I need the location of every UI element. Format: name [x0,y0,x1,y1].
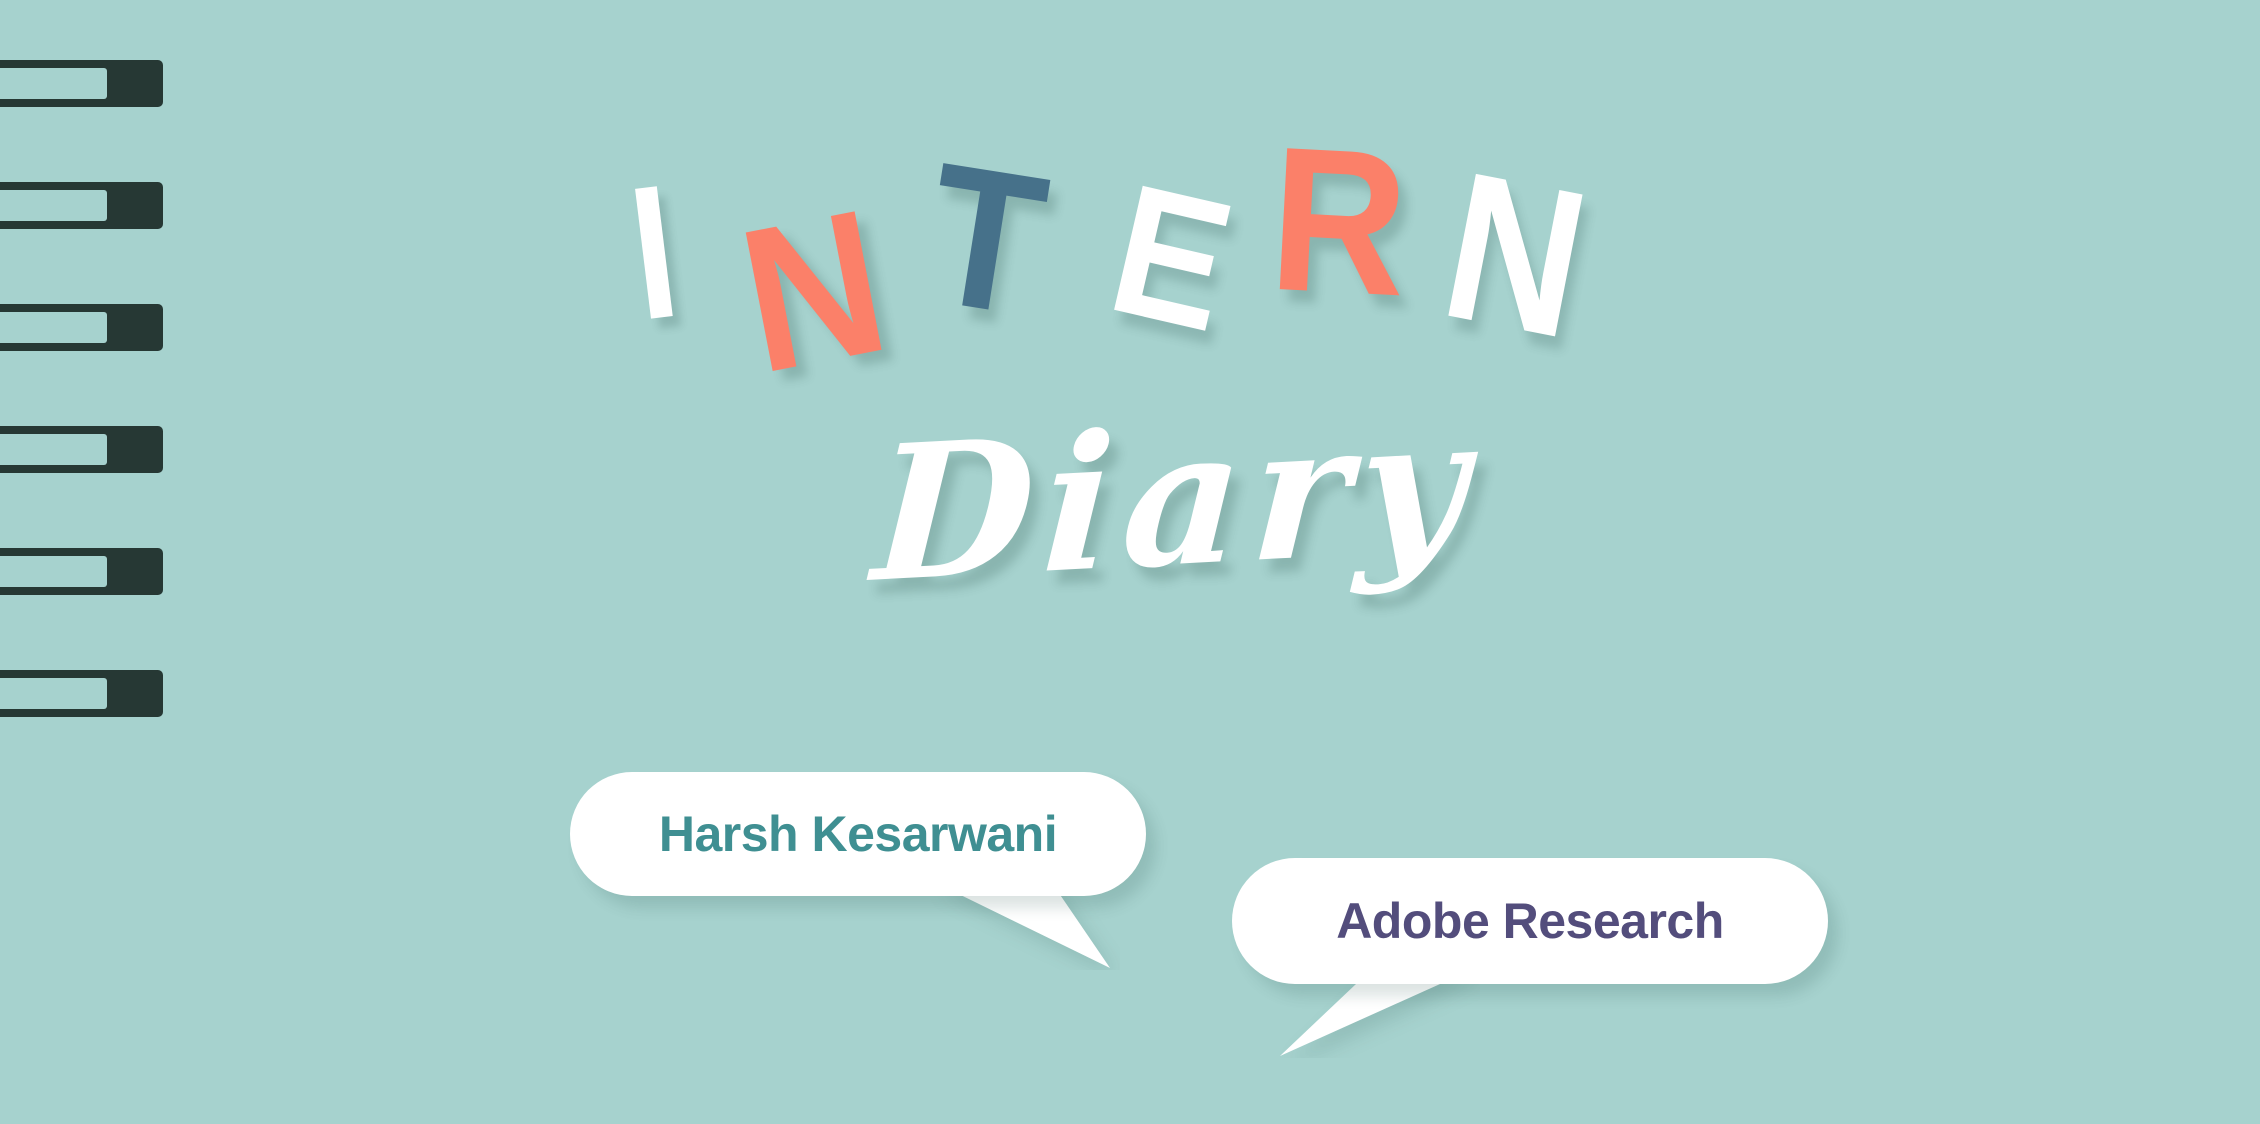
headline-letter-n2: N [1432,149,1595,359]
headline-letter-e: E [1099,165,1241,351]
spiral-ring-hole [0,190,107,221]
org-bubble[interactable]: Adobe Research [1232,858,1828,984]
spiral-ring-hole [0,556,107,587]
headline-diary: Diary [869,374,1481,624]
spiral-ring [0,60,163,107]
spiral-ring-hole [0,68,107,99]
name-bubble-label: Harsh Kesarwani [659,805,1057,863]
spiral-ring-hole [0,312,107,343]
name-bubble[interactable]: Harsh Kesarwani [570,772,1146,896]
spiral-ring-hole [0,434,107,465]
spiral-ring-hole [0,678,107,709]
spiral-ring [0,182,163,229]
spiral-ring [0,426,163,473]
spiral-ring [0,670,163,717]
headline-letter-i: I [623,166,683,341]
intern-diary-cover: I N T E R N Diary Harsh Kesarwani Adobe … [0,0,2260,1124]
headline-letter-n1: N [729,189,894,395]
headline-letter-r: R [1266,127,1408,318]
headline-letter-t: T [916,143,1052,338]
spiral-ring [0,304,163,351]
spiral-ring [0,548,163,595]
org-bubble-label: Adobe Research [1336,892,1724,950]
